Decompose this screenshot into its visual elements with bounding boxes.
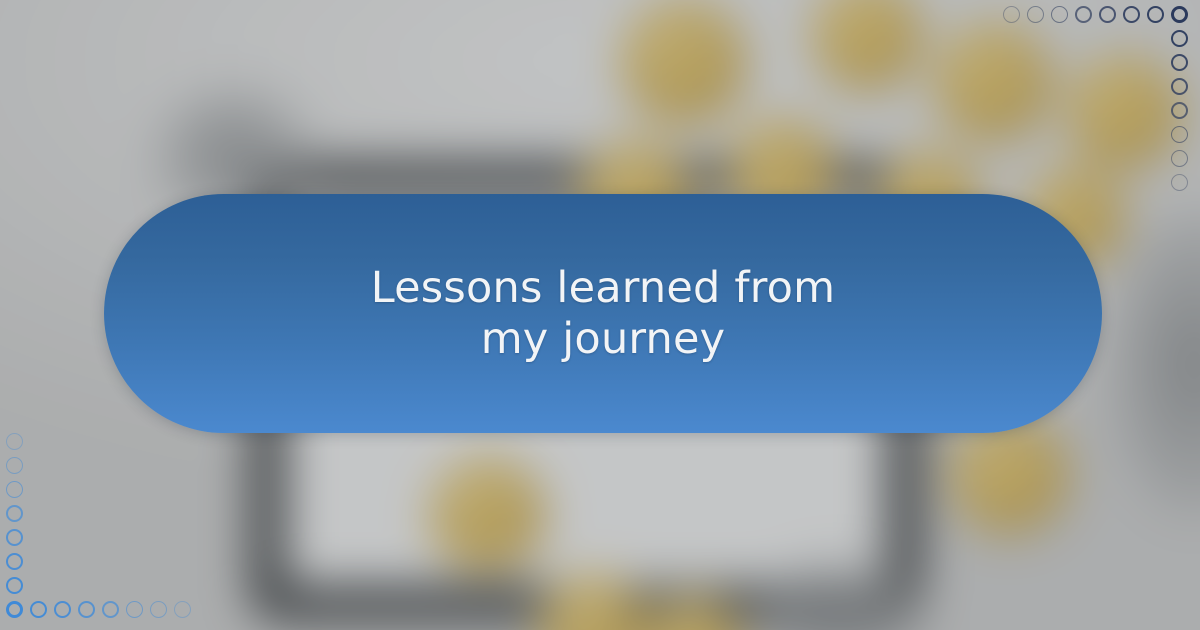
dot-top-row-1 (1003, 6, 1020, 23)
dot-top-row-8 (1171, 6, 1188, 23)
dot-bottom-row-7 (150, 601, 167, 618)
dot-top-row-5 (1099, 6, 1116, 23)
dot-left-col-2 (6, 577, 23, 594)
dot-left-col-8 (6, 433, 23, 450)
dot-right-col-8 (1171, 174, 1188, 191)
dot-left-col-7 (6, 457, 23, 474)
dot-top-row-4 (1075, 6, 1092, 23)
title-card: Lessons learned from my journey (104, 194, 1102, 433)
dot-right-col-3 (1171, 54, 1188, 71)
dot-top-row-2 (1027, 6, 1044, 23)
dot-bottom-row-8 (174, 601, 191, 618)
dot-bottom-row-1 (6, 601, 23, 618)
title-line-1: Lessons learned from (371, 263, 836, 314)
dot-right-col-5 (1171, 102, 1188, 119)
dot-right-col-4 (1171, 78, 1188, 95)
dot-left-col-6 (6, 481, 23, 498)
dot-left-col-4 (6, 529, 23, 546)
dot-cluster-bottom-left (0, 413, 217, 630)
dot-left-col-3 (6, 553, 23, 570)
dot-left-col-5 (6, 505, 23, 522)
dot-right-col-2 (1171, 30, 1188, 47)
dot-top-row-7 (1147, 6, 1164, 23)
dot-bottom-row-5 (102, 601, 119, 618)
dot-top-row-6 (1123, 6, 1140, 23)
dot-bottom-row-4 (78, 601, 95, 618)
dot-bottom-row-6 (126, 601, 143, 618)
dot-bottom-row-2 (30, 601, 47, 618)
title-text: Lessons learned from my journey (301, 263, 906, 364)
poster-canvas: Lessons learned from my journey (0, 0, 1200, 630)
title-line-2: my journey (371, 314, 836, 365)
dot-bottom-row-3 (54, 601, 71, 618)
dot-cluster-top-right (983, 0, 1200, 217)
dot-top-row-3 (1051, 6, 1068, 23)
dot-right-col-7 (1171, 150, 1188, 167)
dot-right-col-6 (1171, 126, 1188, 143)
